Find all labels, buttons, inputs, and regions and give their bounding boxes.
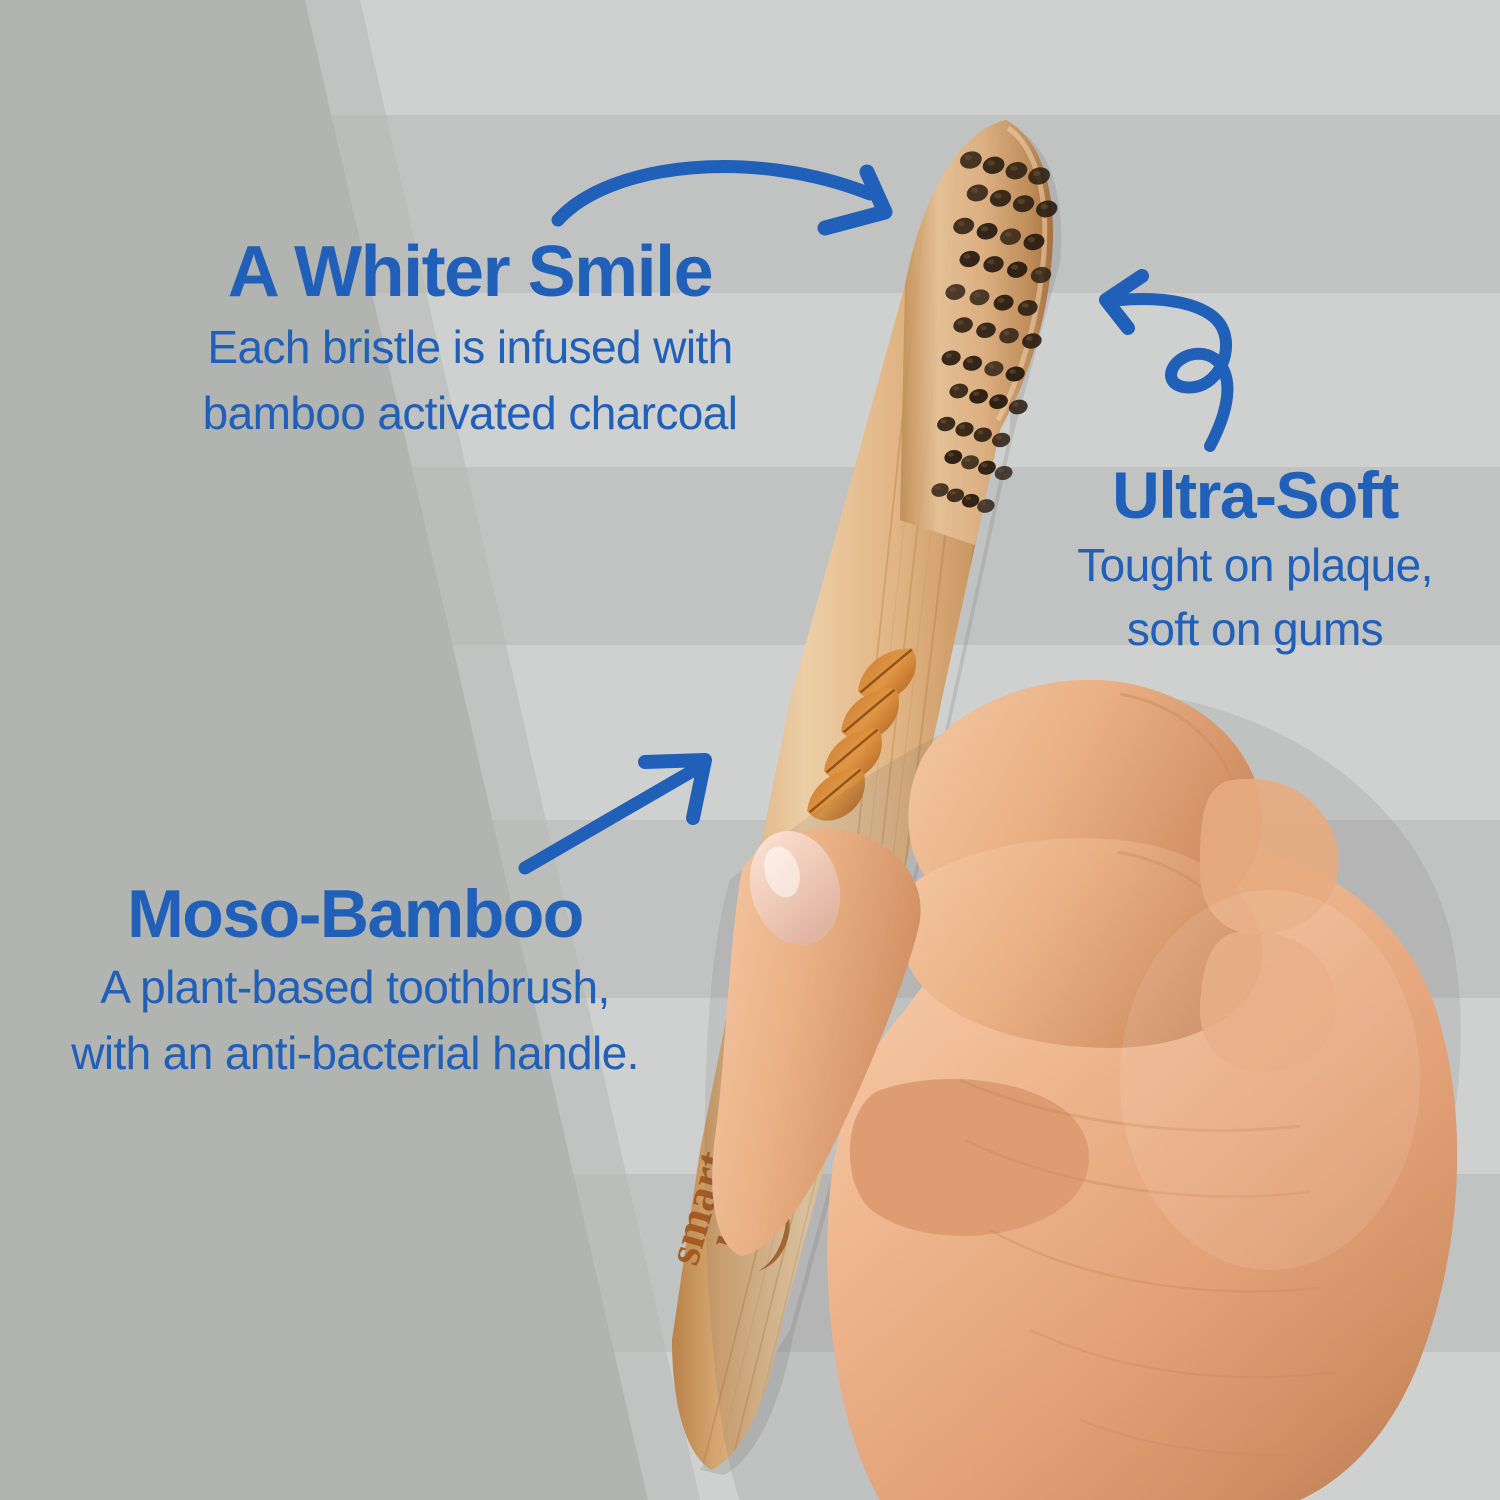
arrow-curly-loop-to-bristles [1080, 268, 1270, 468]
callout-subline-1: Each bristle is infused with [0, 322, 940, 374]
callout-subline-1: A plant-based toothbrush, [0, 962, 710, 1014]
arrow-straight-to-handle [505, 740, 725, 885]
callout-subline-2: with an anti-bacterial handle. [0, 1028, 710, 1080]
callout-moso-bamboo: Moso-Bamboo A plant-based toothbrush, wi… [0, 880, 710, 1079]
callout-subline-2: bamboo activated charcoal [0, 388, 940, 440]
infographic-canvas: smart life [0, 0, 1500, 1500]
callout-ultra-soft: Ultra-Soft Tought on plaque, soft on gum… [1010, 462, 1500, 655]
callout-heading: Moso-Bamboo [0, 880, 710, 948]
callout-heading: A Whiter Smile [0, 236, 940, 308]
callout-subline-1: Tought on plaque, [1010, 540, 1500, 592]
callout-subline-2: soft on gums [1010, 604, 1500, 656]
callout-heading: Ultra-Soft [1010, 462, 1500, 528]
callout-whiter-smile: A Whiter Smile Each bristle is infused w… [0, 236, 940, 439]
